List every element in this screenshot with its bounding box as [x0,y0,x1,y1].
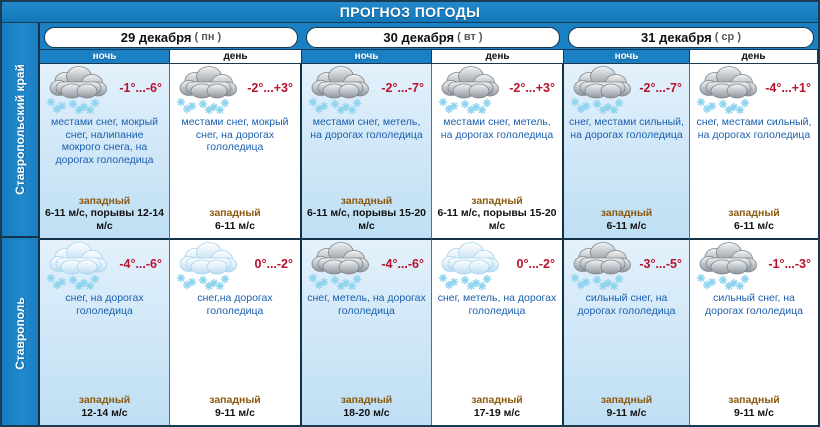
wind-speed: 6-11 м/с [170,220,300,233]
day-pill[interactable]: 30 декабря ( вт ) [306,27,560,48]
cell-top-strip: -2°...+3° [432,64,562,116]
forecast-cell: -4°...-6°снег, метель, на дорогах гололе… [302,240,432,425]
region-label-stavropol: Ставрополь [2,240,38,427]
cloud-snow-gray-icon [308,64,374,114]
forecast-cell: -2°...+3°местами снег, метель, на дорога… [432,64,564,240]
day-header-group-1: 29 декабря ( пн ) [40,25,302,49]
temperature-range: -1°...-6° [119,81,162,95]
temperature-range: -1°...-3° [768,257,811,271]
temperature-range: -2°...+3° [509,81,555,95]
wind-info: западный18-20 м/с [302,394,431,419]
wind-speed: 12-14 м/с [40,407,169,420]
cloud-snow-white-icon [46,240,112,290]
temperature-range: -2°...-7° [381,81,424,95]
cloud-snow-white-icon [176,240,242,290]
cell-top-strip: -1°...-3° [690,240,818,292]
day-date: 31 декабря [641,30,712,45]
wind-direction: западный [690,207,818,220]
period-header-day-3: день [690,49,818,64]
period-headers: ночь день ночь день ночь день [40,49,818,64]
weather-description: сильный снег, на дорогах гололедица [690,292,818,317]
forecast-cell: -2°...+3°местами снег, мокрый снег, на д… [170,64,302,240]
cloud-snow-gray-icon [176,64,242,114]
day-weekday: ( пн ) [194,31,221,43]
wind-info: западный6-11 м/с, порывы 12-14 м/с [40,195,169,233]
temperature-range: -3°...-5° [639,257,682,271]
weather-description: снег, метель, на дорогах гололедица [432,292,562,317]
cell-top-strip: -2°...+3° [170,64,300,116]
weather-description: местами снег, мокрый снег, налипание мок… [40,116,169,166]
day-date: 29 декабря [121,30,192,45]
wind-direction: западный [564,207,689,220]
cloud-snow-gray-icon [696,240,762,290]
period-header-day-2: день [432,49,564,64]
temperature-range: 0°...-2° [517,257,555,271]
wind-speed: 6-11 м/с [690,220,818,233]
period-header-night-3: ночь [564,49,690,64]
wind-direction: западный [432,394,562,407]
forecast-cell: -4°...+1°снег, местами сильный, на дорог… [690,64,818,240]
wind-info: западный17-19 м/с [432,394,562,419]
weather-description: снег, местами сильный, на дорогах гололе… [564,116,689,141]
wind-speed: 9-11 м/с [170,407,300,420]
forecast-cell: -2°...-7°местами снег, метель, на дорога… [302,64,432,240]
period-header-night-1: ночь [40,49,170,64]
wind-direction: западный [40,394,169,407]
cloud-snow-gray-icon [438,64,504,114]
weather-description: местами снег, метель, на дорогах гололед… [432,116,562,141]
wind-speed: 6-11 м/с, порывы 15-20 м/с [432,207,562,232]
wind-info: западный12-14 м/с [40,394,169,419]
day-weekday: ( ср ) [715,31,741,43]
weather-description: сильный снег, на дорогах гололедица [564,292,689,317]
wind-direction: западный [302,195,431,208]
cloud-snow-gray-icon [570,64,636,114]
day-pill[interactable]: 29 декабря ( пн ) [44,27,298,48]
temperature-range: 0°...-2° [255,257,293,271]
wind-direction: западный [40,195,169,208]
wind-speed: 17-19 м/с [432,407,562,420]
wind-info: западный6-11 м/с [690,207,818,232]
cloud-snow-gray-icon [308,240,374,290]
forecast-cell: 0°...-2°снег, метель, на дорогах гололед… [432,240,564,425]
widget-title-bar: ПРОГНОЗ ПОГОДЫ [2,2,818,23]
forecast-row-stavropol: -4°...-6°снег, на дорогах гололедицазапа… [40,240,818,425]
wind-direction: западный [564,394,689,407]
weather-description: снег,на дорогах гололедица [170,292,300,317]
day-header-group-2: 30 декабря ( вт ) [302,25,564,49]
forecast-cell: -2°...-7°снег, местами сильный, на дорог… [564,64,690,240]
wind-direction: западный [432,195,562,208]
weather-description: снег, метель, на дорогах гололедица [302,292,431,317]
region-label-stavropolsky-kray: Ставропольский край [2,23,38,238]
cell-top-strip: 0°...-2° [170,240,300,292]
cell-top-strip: -2°...-7° [302,64,431,116]
wind-direction: западный [690,394,818,407]
cell-top-strip: -4°...-6° [40,240,169,292]
forecast-row-stavropolsky-kray: -1°...-6°местами снег, мокрый снег, нали… [40,64,818,240]
day-header-group-3: 31 декабря ( ср ) [564,25,818,49]
wind-speed: 6-11 м/с [564,220,689,233]
wind-direction: западный [302,394,431,407]
wind-speed: 6-11 м/с, порывы 12-14 м/с [40,207,169,232]
temperature-range: -4°...-6° [119,257,162,271]
wind-speed: 9-11 м/с [564,407,689,420]
weather-description: снег, на дорогах гололедица [40,292,169,317]
wind-direction: западный [170,394,300,407]
region-name: Ставрополь [14,297,27,370]
weather-description: местами снег, метель, на дорогах гололед… [302,116,431,141]
cell-top-strip: -4°...+1° [690,64,818,116]
cloud-snow-gray-icon [696,64,762,114]
day-date: 30 декабря [383,30,454,45]
cell-top-strip: 0°...-2° [432,240,562,292]
wind-info: западный9-11 м/с [564,394,689,419]
cloud-snow-gray-icon [46,64,112,114]
page-title: ПРОГНОЗ ПОГОДЫ [340,4,480,20]
weather-description: снег, местами сильный, на дорогах гололе… [690,116,818,141]
forecast-cell: 0°...-2°снег,на дорогах гололедицазападн… [170,240,302,425]
forecast-cell: -4°...-6°снег, на дорогах гололедицазапа… [40,240,170,425]
weather-description: местами снег, мокрый снег, на дорогах го… [170,116,300,154]
forecast-cell: -3°...-5°сильный снег, на дорогах гололе… [564,240,690,425]
wind-info: западный9-11 м/с [170,394,300,419]
day-pill[interactable]: 31 декабря ( ср ) [568,27,814,48]
forecast-cell: -1°...-3°сильный снег, на дорогах гололе… [690,240,818,425]
wind-info: западный6-11 м/с, порывы 15-20 м/с [302,195,431,233]
wind-info: западный9-11 м/с [690,394,818,419]
cloud-snow-gray-icon [570,240,636,290]
period-header-day-1: день [170,49,302,64]
temperature-range: -4°...+1° [765,81,811,95]
wind-speed: 6-11 м/с, порывы 15-20 м/с [302,207,431,232]
temperature-range: -4°...-6° [381,257,424,271]
period-header-night-2: ночь [302,49,432,64]
wind-speed: 9-11 м/с [690,407,818,420]
cell-top-strip: -1°...-6° [40,64,169,116]
wind-info: западный6-11 м/с [170,207,300,232]
wind-speed: 18-20 м/с [302,407,431,420]
cell-top-strip: -4°...-6° [302,240,431,292]
day-weekday: ( вт ) [457,31,482,43]
wind-direction: западный [170,207,300,220]
temperature-range: -2°...-7° [639,81,682,95]
weather-forecast-widget: ПРОГНОЗ ПОГОДЫ Ставропольский край Ставр… [0,0,820,427]
cell-top-strip: -3°...-5° [564,240,689,292]
wind-info: западный6-11 м/с, порывы 15-20 м/с [432,195,562,233]
wind-info: западный6-11 м/с [564,207,689,232]
temperature-range: -2°...+3° [247,81,293,95]
cell-top-strip: -2°...-7° [564,64,689,116]
region-sidebar: Ставропольский край Ставрополь [2,23,40,427]
forecast-cell: -1°...-6°местами снег, мокрый снег, нали… [40,64,170,240]
region-name: Ставропольский край [14,64,27,195]
forecast-grid: -1°...-6°местами снег, мокрый снег, нали… [40,64,818,427]
cloud-snow-white-icon [438,240,504,290]
day-headers: 29 декабря ( пн ) 30 декабря ( вт ) 31 д… [40,25,818,49]
